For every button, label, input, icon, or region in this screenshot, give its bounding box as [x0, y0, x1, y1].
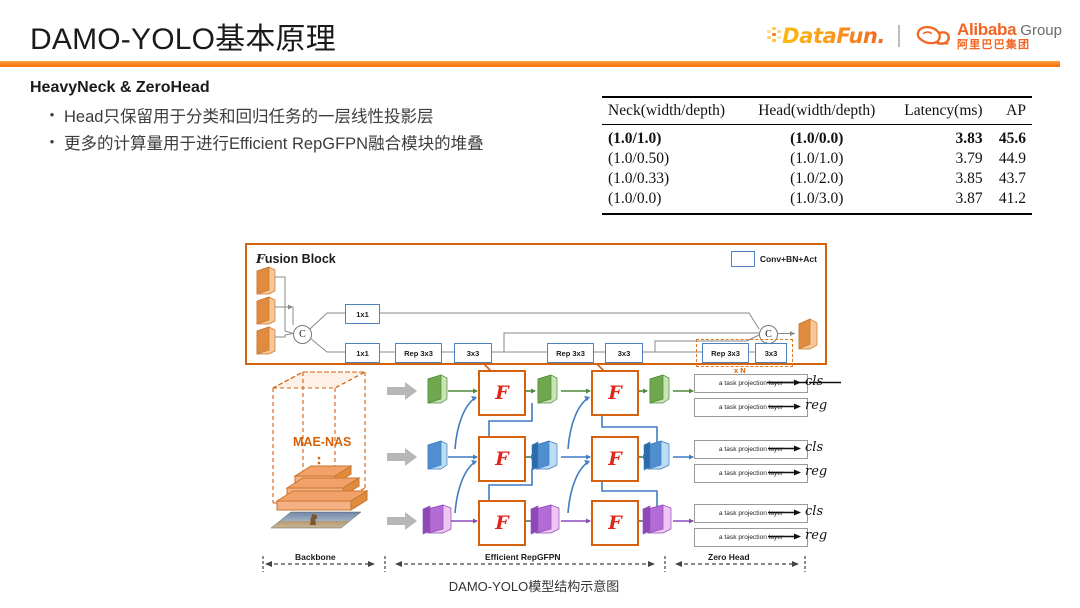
stage-label-head: Zero Head — [704, 552, 754, 562]
table-header-neck: Neck(width/depth) — [602, 97, 745, 125]
cell-ap: 43.7 — [989, 169, 1032, 189]
table-header-latency: Latency(ms) — [888, 97, 988, 125]
cell-latency: 3.79 — [888, 149, 988, 169]
output-reg-p5: reg — [805, 398, 827, 413]
cell-latency: 3.85 — [888, 169, 988, 189]
conv-block-rep3x3-1: Rep 3x3 — [395, 343, 442, 363]
page-title: DAMO-YOLO基本原理 — [30, 14, 336, 58]
bullet-text: 更多的计算量用于进行Efficient RepGFPN融合模块的堆叠 — [64, 131, 600, 158]
title-accent-bar — [0, 61, 1060, 67]
architecture-figure: Fusion Block Conv+BN+Act C C — [245, 243, 825, 588]
conv-block-3x3-1: 3x3 — [454, 343, 492, 363]
bullet-list: • Head只保留用于分类和回归任务的一层线性投影层 • 更多的计算量用于进行E… — [40, 104, 600, 157]
datafun-dots-icon — [767, 27, 780, 45]
cell-ap: 45.6 — [989, 125, 1032, 150]
conv-block-1x1-bottom: 1x1 — [345, 343, 380, 363]
table-row: (1.0/0.50) (1.0/1.0) 3.79 44.9 — [602, 149, 1032, 169]
datafun-wordmark: DataFun. — [782, 24, 885, 48]
cell-neck: (1.0/1.0) — [602, 125, 745, 150]
bullet-marker-icon: • — [40, 131, 64, 153]
cell-head: (1.0/1.0) — [745, 149, 888, 169]
output-cls-p4: cls — [805, 440, 823, 455]
head-output-arrows — [245, 365, 823, 555]
alibaba-mark-icon — [913, 22, 953, 50]
cell-head: (1.0/3.0) — [745, 189, 888, 214]
alibaba-en-bold: Alibaba — [957, 21, 1016, 38]
stage-label-neck: Efficient RepGFPN — [481, 552, 565, 562]
brand-logos: DataFun. | Alibaba Group 阿里巴巴集团 — [767, 16, 1062, 56]
cell-ap: 44.9 — [989, 149, 1032, 169]
cell-neck: (1.0/0.0) — [602, 189, 745, 214]
alibaba-text: Alibaba Group 阿里巴巴集团 — [957, 21, 1062, 51]
stage-label-backbone: Backbone — [291, 552, 340, 562]
cell-neck: (1.0/0.50) — [602, 149, 745, 169]
alibaba-en-light: Group — [1020, 23, 1062, 38]
output-reg-p3: reg — [805, 528, 827, 543]
cell-neck: (1.0/0.33) — [602, 169, 745, 189]
list-item: • 更多的计算量用于进行Efficient RepGFPN融合模块的堆叠 — [40, 131, 600, 158]
fusion-block-panel: Fusion Block Conv+BN+Act C C — [245, 243, 827, 365]
alibaba-cn: 阿里巴巴集团 — [957, 40, 1062, 51]
list-item: • Head只保留用于分类和回归任务的一层线性投影层 — [40, 104, 600, 131]
datafun-logo: DataFun. — [767, 24, 885, 48]
cell-ap: 41.2 — [989, 189, 1032, 214]
model-architecture: MAE-NAS — [245, 365, 823, 555]
cell-head: (1.0/2.0) — [745, 169, 888, 189]
table-row: (1.0/1.0) (1.0/0.0) 3.83 45.6 — [602, 125, 1032, 150]
table-header-ap: AP — [989, 97, 1032, 125]
output-cls-p3: cls — [805, 504, 823, 519]
brand-divider: | — [896, 21, 902, 48]
conv-block-rep3x3-2: Rep 3x3 — [547, 343, 594, 363]
slide: DAMO-YOLO基本原理 DataFun. | Alibaba Group 阿… — [0, 0, 1080, 608]
bullet-marker-icon: • — [40, 104, 64, 126]
repeat-group-box — [696, 339, 793, 367]
alibaba-logo: Alibaba Group 阿里巴巴集团 — [913, 21, 1062, 51]
conv-block-3x3-2: 3x3 — [605, 343, 643, 363]
results-table: Neck(width/depth) Head(width/depth) Late… — [602, 96, 1032, 215]
output-cls-p5: cls — [805, 374, 823, 389]
cell-head: (1.0/0.0) — [745, 125, 888, 150]
table-row: (1.0/0.0) (1.0/3.0) 3.87 41.2 — [602, 189, 1032, 214]
section-heading: HeavyNeck & ZeroHead — [30, 79, 210, 97]
cell-latency: 3.87 — [888, 189, 988, 214]
bullet-text: Head只保留用于分类和回归任务的一层线性投影层 — [64, 104, 600, 131]
cell-latency: 3.83 — [888, 125, 988, 150]
table-row: (1.0/0.33) (1.0/2.0) 3.85 43.7 — [602, 169, 1032, 189]
stage-spans: Backbone Efficient RepGFPN Zero Head — [245, 553, 823, 575]
output-reg-p4: reg — [805, 464, 827, 479]
figure-caption: DAMO-YOLO模型结构示意图 — [245, 576, 823, 595]
conv-block-1x1-top: 1x1 — [345, 304, 380, 324]
table-header-head: Head(width/depth) — [745, 97, 888, 125]
